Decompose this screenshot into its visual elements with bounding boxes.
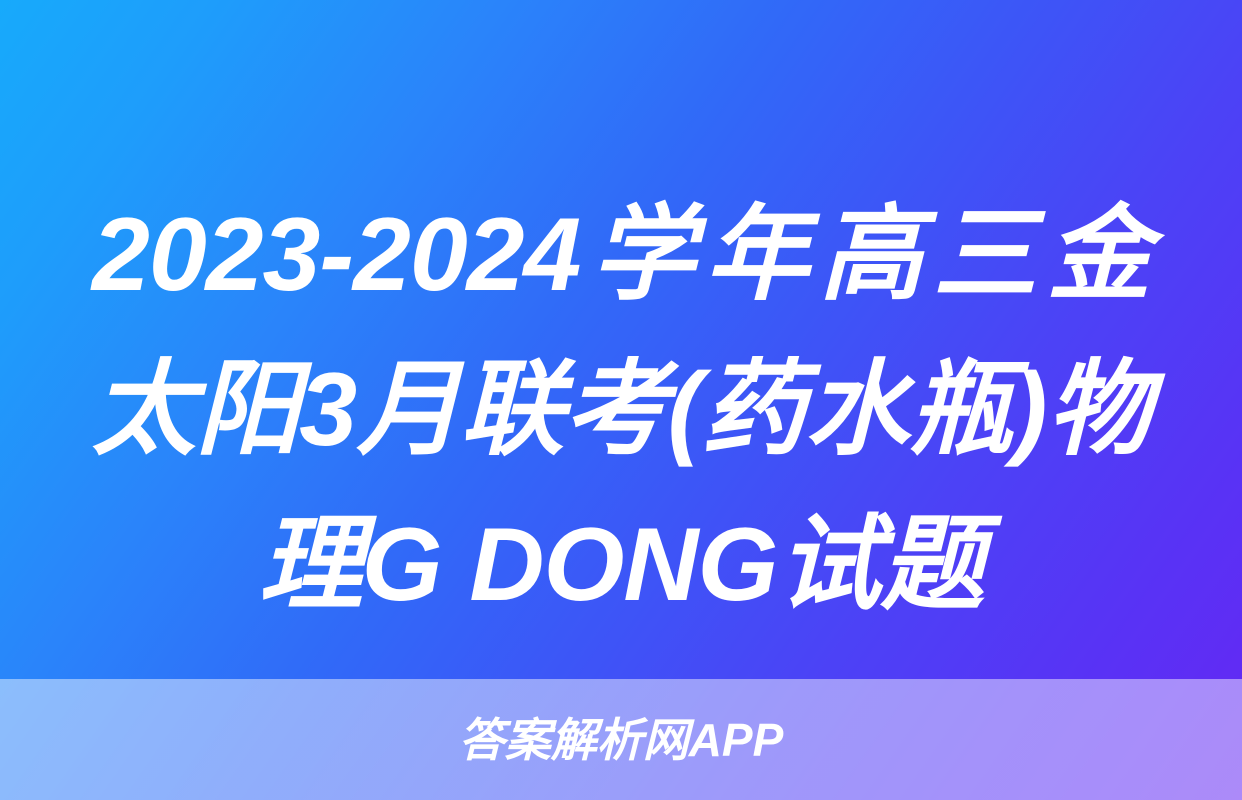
title-chunk: 物 xyxy=(1047,333,1150,488)
title-chunk: ) xyxy=(1013,333,1047,488)
title-line-1: 2023-2024 学 年 高 三 金 xyxy=(92,178,1150,333)
title-chunk: 学 xyxy=(591,178,694,333)
title-chunk: 水 xyxy=(805,333,908,488)
title-chunk: 2023-2024 xyxy=(92,178,580,333)
title-chunk: 年 xyxy=(705,178,808,333)
title-chunk: 考 xyxy=(564,333,667,488)
title-chunk: 瓶 xyxy=(909,333,1012,488)
title-chunk: 高 xyxy=(819,178,922,333)
page-title: 2023-2024 学 年 高 三 金 太 阳 3 月 联 考 ( 药 水 瓶 … xyxy=(0,178,1242,643)
footer-watermark-band: 答案解析网APP xyxy=(0,679,1242,800)
title-chunk: 3 xyxy=(299,333,356,488)
title-line-2: 太 阳 3 月 联 考 ( 药 水 瓶 ) 物 xyxy=(92,333,1150,488)
title-chunk: 阳 xyxy=(196,333,299,488)
cover-image: 2023-2024 学 年 高 三 金 太 阳 3 月 联 考 ( 药 水 瓶 … xyxy=(0,0,1242,800)
title-chunk: 联 xyxy=(460,333,563,488)
title-line-3: 理G DONG试题 xyxy=(92,488,1150,643)
title-chunk: 金 xyxy=(1047,178,1150,333)
title-chunk: 药 xyxy=(702,333,805,488)
title-chunk: 太 xyxy=(92,333,195,488)
title-chunk: 月 xyxy=(357,333,460,488)
title-chunk: 三 xyxy=(933,178,1036,333)
title-chunk: ( xyxy=(668,333,702,488)
watermark-label: 答案解析网APP xyxy=(459,717,784,763)
